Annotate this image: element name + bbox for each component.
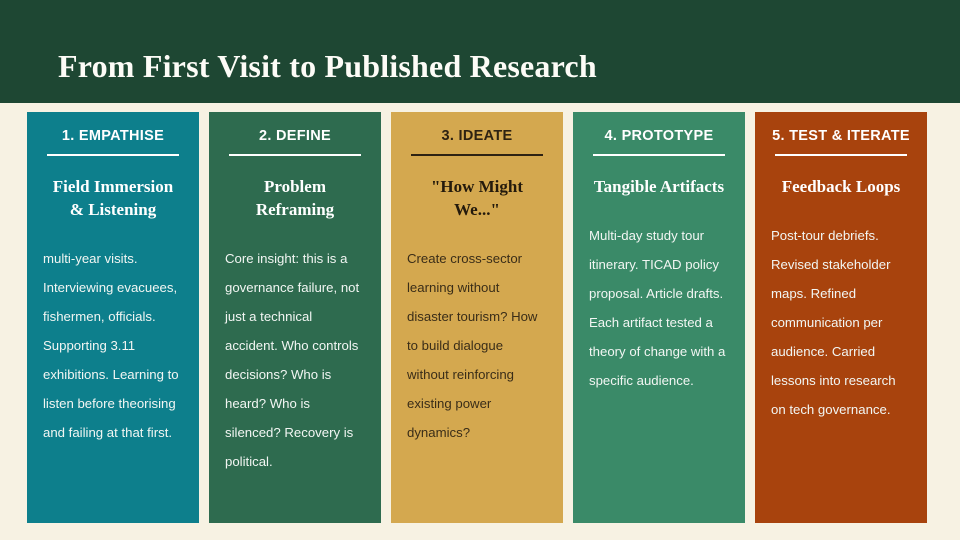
header-divider [411,154,543,156]
process-column-empathise[interactable]: 1. EMPATHISE Field Immersion & Listening… [27,112,199,523]
step-body: Multi-day study tour itinerary. TICAD po… [587,221,731,395]
process-column-ideate[interactable]: 3. IDEATE "How Might We..." Create cross… [391,112,563,523]
step-subtitle: Problem Reframing [223,175,367,221]
step-subtitle: "How Might We..." [405,175,549,221]
process-column-define[interactable]: 2. DEFINE Problem Reframing Core insight… [209,112,381,523]
step-subtitle: Tangible Artifacts [587,175,731,198]
header-divider [47,154,179,156]
step-subtitle: Feedback Loops [769,175,913,198]
process-columns: 1. EMPATHISE Field Immersion & Listening… [27,112,927,523]
page-title: From First Visit to Published Research [58,47,597,85]
step-body: Core insight: this is a governance failu… [223,244,367,476]
step-label: 2. DEFINE [223,126,367,147]
step-subtitle: Field Immersion & Listening [41,175,185,221]
step-body: Create cross-sector learning without dis… [405,244,549,447]
step-label: 1. EMPATHISE [41,126,185,147]
header-divider [775,154,907,156]
step-label: 3. IDEATE [405,126,549,147]
step-label: 4. PROTOTYPE [587,126,731,147]
process-column-test-iterate[interactable]: 5. TEST & ITERATE Feedback Loops Post-to… [755,112,927,523]
header-divider [229,154,361,156]
step-body: Post-tour debriefs. Revised stakeholder … [769,221,913,424]
process-column-prototype[interactable]: 4. PROTOTYPE Tangible Artifacts Multi-da… [573,112,745,523]
header-divider [593,154,725,156]
step-label: 5. TEST & ITERATE [769,126,913,147]
step-body: multi-year visits. Interviewing evacuees… [41,244,185,447]
slide: From First Visit to Published Research 1… [0,0,960,540]
